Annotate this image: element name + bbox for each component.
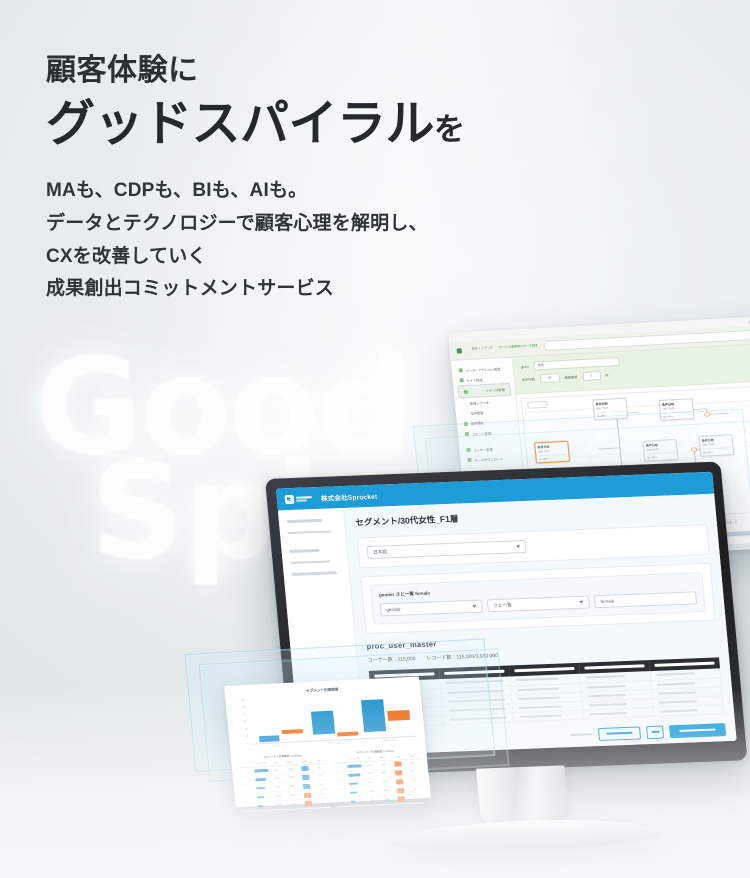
edit-icon (464, 390, 468, 394)
filter-updated-value: 0 (590, 374, 592, 378)
sidebar-placeholder-5[interactable] (292, 571, 337, 575)
hero-copy: 顧客体験に グッドスパイラルを MAも、CDPも、BIも、AIも。 データとテク… (46, 52, 606, 306)
sidebar-item-label: ユーザーアクション設定 (465, 366, 500, 373)
sprocket-logo-icon (285, 494, 313, 504)
bar-chart: 6050 4030 2010 0 (233, 692, 416, 746)
headline-suffix: を (434, 112, 465, 147)
create-segment-button[interactable] (669, 723, 726, 738)
add-button[interactable] (646, 725, 664, 739)
watermark-line-1: Good (34, 330, 410, 484)
filter-count-value: 1件 (547, 376, 552, 380)
hero-lede: MAも、CDPも、BIも、AIも。 データとテクノロジーで顧客心理を解明し、 C… (46, 175, 606, 306)
node-meta: step_0x2A (596, 406, 624, 410)
filter-unit-label: 件 (605, 373, 609, 378)
sidebar-item-label: サイト設定 (466, 377, 482, 383)
chevron-down-icon (579, 601, 583, 604)
lede-line-2: データとテクノロジーで顧客心理を解明し、 (46, 208, 606, 241)
chart-group-b (306, 695, 360, 741)
chart-bar-orange-c (387, 710, 410, 722)
report-tables: セグメント上位貢献度 / ranking カテゴリ名 値 前月比 CV数 比率 … (239, 748, 423, 812)
chart-x-label-c: セグメントC (362, 739, 418, 745)
hero-kicker: 顧客体験に (46, 52, 606, 90)
chart-bar-orange-b (337, 732, 358, 737)
language-select-value: 日本語 (373, 549, 387, 556)
logo-wordmark (296, 496, 312, 502)
sidebar-item-label: シナリオ管理 (485, 387, 505, 393)
node-meta: step_0x3F (662, 406, 690, 410)
filter-card[interactable]: 日本語 (357, 524, 710, 568)
chevron-down-icon (472, 605, 476, 608)
field-input-value[interactable]: female (594, 591, 697, 608)
ranking-table[interactable]: カテゴリ名 値 前月比 CV数 比率 137.2480231 224.33980… (240, 759, 331, 812)
chart-group-a (253, 697, 307, 743)
filter-updated-label: 最終更新 (564, 374, 577, 380)
field-select-operator[interactable]: さと一覧 (487, 595, 590, 612)
sidebar-placeholder-4[interactable] (291, 560, 330, 564)
chevron-down-icon (516, 545, 520, 548)
flag-icon (459, 368, 463, 372)
lede-line-4: 成果創出コミットメントサービス (46, 273, 606, 306)
report-table-bottom[interactable]: セグメント下位貢献度 / ranking カテゴリ名 値 前月比 CV数 比率 … (332, 748, 423, 807)
hero-headline: グッドスパイラルを (46, 96, 606, 154)
ranking-table[interactable]: カテゴリ名 値 前月比 CV数 比率 141.0512034 227.64011… (333, 754, 424, 807)
filter-count-label: 表示件数 (522, 376, 535, 382)
filter-field-label: grid-n (520, 364, 529, 368)
save-button[interactable] (598, 726, 641, 741)
sidebar-placeholder-2[interactable] (288, 530, 331, 534)
chart-bar-blue-b (311, 710, 335, 735)
action-hint (570, 733, 592, 736)
chart-x-label-a: セグメントA (251, 744, 307, 750)
page-title: セグメント/30代女性_F1層 (355, 503, 706, 528)
field-select-gender[interactable]: gender (380, 600, 483, 617)
window-tab-label[interactable]: サービス連携用シナリオ設定 (499, 344, 538, 350)
headline-main: グッドスパイラル (46, 97, 434, 151)
breadcrumb: 設定 > シナリオ (472, 347, 494, 352)
filter-search-value: 検索 (538, 364, 544, 368)
globe-icon (460, 378, 464, 382)
sidebar-placeholder-1[interactable] (287, 519, 323, 523)
sidebar-item-label: 접속管理 (471, 410, 484, 416)
report-card[interactable]: セグメント別貢献度 6050 4030 2010 0 (224, 676, 431, 807)
hero-stage: Good Spiral Sprocketご利用ガイド・機能追加情報 ご契約サイト… (0, 0, 750, 878)
condition-group[interactable]: gender さと一覧 female gender さと一覧 (370, 572, 706, 625)
chart-x-label-b: セグメントB (306, 741, 362, 747)
sprocket-logo-icon (457, 348, 462, 353)
sidebar-placeholder-3[interactable] (290, 549, 321, 553)
chart-group-c (359, 692, 413, 738)
condition-card[interactable]: gender さと一覧 female gender さと一覧 (360, 563, 715, 634)
sidebar-item-label: 新規シナリオ (470, 400, 490, 406)
language-select[interactable]: 日本語 (366, 540, 527, 559)
chart-bar-blue-a (259, 735, 280, 742)
logo-mark (285, 494, 295, 503)
company-name: 株式会社Sprocket (320, 491, 377, 503)
chart-plot-area (246, 692, 416, 745)
report-table-top[interactable]: セグメント上位貢献度 / ranking カテゴリ名 値 前月比 CV数 比率 … (239, 752, 330, 811)
lede-line-3: CXを改善していく (46, 241, 606, 274)
lede-line-1: MAも、CDPも、BIも、AIも。 (46, 175, 606, 208)
chart-bar-blue-c (361, 699, 386, 732)
chart-bar-orange-a (281, 729, 303, 734)
